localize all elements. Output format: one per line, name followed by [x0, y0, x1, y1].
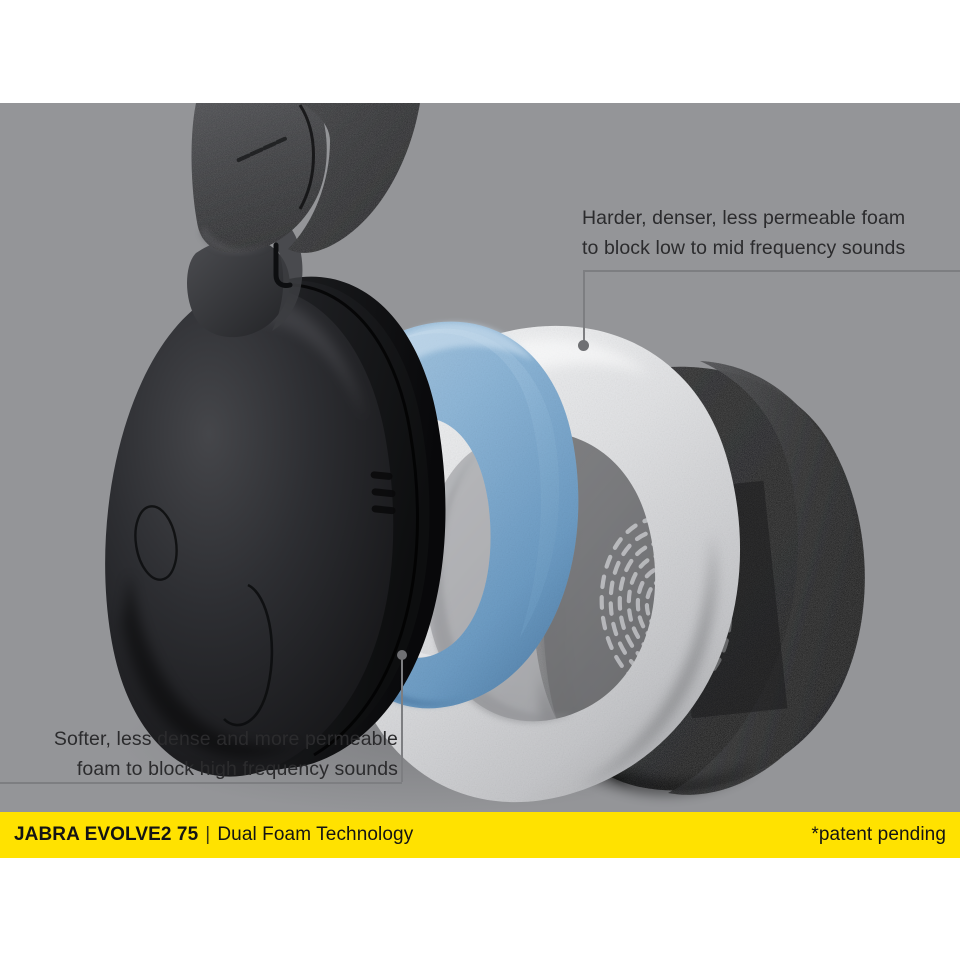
callout-bottom-line-1: Softer, less dense and more permeable: [0, 724, 402, 754]
top-white-margin: [0, 0, 960, 103]
headband-group: [192, 103, 420, 254]
callout-top-leader-line: [583, 270, 585, 346]
harder-denser-foam-callout: Harder, denser, less permeable foam to b…: [582, 203, 960, 263]
footer-subtitle: Dual Foam Technology: [217, 824, 413, 846]
footer-patent-note: *patent pending: [811, 812, 946, 858]
footer-separator: |: [205, 824, 210, 846]
footer-brand-group: JABRA EVOLVE2 75 | Dual Foam Technology: [14, 812, 413, 858]
earcup-vent-slots: [370, 471, 396, 514]
callout-bottom-leader-line: [401, 655, 403, 782]
callout-bottom-underline: [0, 782, 402, 784]
product-image-canvas: Harder, denser, less permeable foam to b…: [0, 0, 960, 960]
bottom-white-margin: [0, 858, 960, 960]
callout-top-line-1: Harder, denser, less permeable foam: [582, 203, 960, 233]
callout-top-line-2: to block low to mid frequency sounds: [582, 233, 960, 263]
callout-top-leader-dot: [578, 340, 589, 351]
footer-brand: JABRA EVOLVE2 75: [14, 824, 198, 846]
callout-top-underline: [583, 270, 960, 272]
softer-less-dense-foam-callout: Softer, less dense and more permeable fo…: [0, 724, 402, 784]
callout-bottom-line-2: foam to block high frequency sounds: [0, 754, 402, 784]
callout-bottom-leader-dot: [397, 650, 407, 660]
